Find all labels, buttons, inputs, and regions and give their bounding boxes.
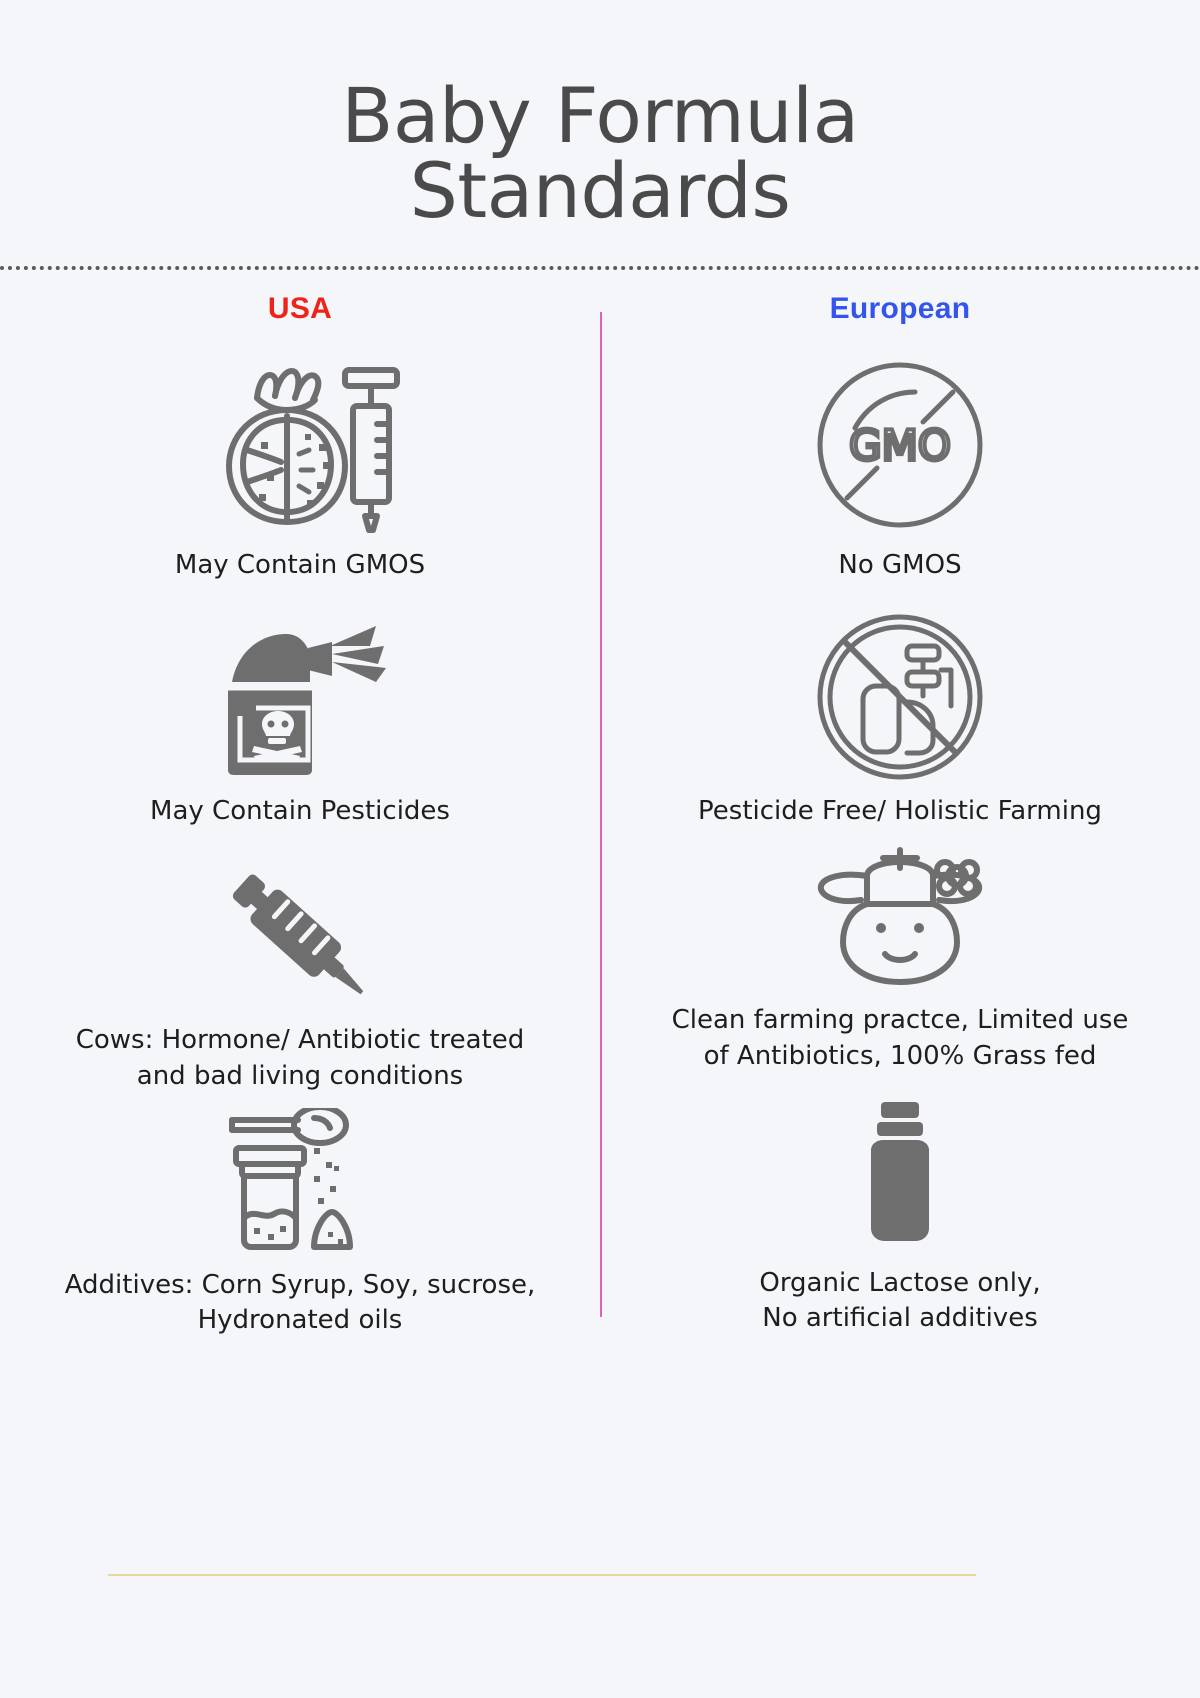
vertical-divider [600, 312, 602, 1317]
cow-head-flower-icon [805, 839, 995, 989]
no-gmo-circle-icon: GMO [811, 356, 989, 534]
usa-item-additives: Additives: Corn Syrup, Soy, sucrose, Hyd… [0, 1094, 600, 1339]
eu-caption-pesticide-free: Pesticide Free/ Holistic Farming [698, 794, 1102, 829]
usa-caption-additives: Additives: Corn Syrup, Soy, sucrose, Hyd… [65, 1268, 536, 1339]
eu-caption-organic-lactose: Organic Lactose only, No artificial addi… [759, 1266, 1040, 1337]
comparison-columns: USA [0, 270, 1200, 1698]
infographic-page: Baby Formula Standards USA [0, 0, 1200, 1698]
usa-caption-pesticides: May Contain Pesticides [150, 794, 450, 829]
bottom-rule [108, 1574, 976, 1576]
syringe-icon [210, 853, 390, 1013]
usa-item-gmo: May Contain GMOS [0, 348, 600, 583]
svg-text:GMO: GMO [849, 421, 951, 470]
eu-item-clean-farming: Clean farming practce, Limited use of An… [600, 829, 1200, 1074]
milk-bottle-icon [845, 1098, 955, 1248]
eu-caption-no-gmo: No GMOS [838, 548, 961, 583]
gmo-tomato-syringe-icon [195, 356, 405, 534]
title-line-1: Baby Formula [0, 78, 1200, 153]
usa-item-hormones: Cows: Hormone/ Antibiotic treated and ba… [0, 829, 600, 1094]
usa-caption-hormones: Cows: Hormone/ Antibiotic treated and ba… [60, 1023, 540, 1094]
title-line-2: Standards [0, 153, 1200, 228]
page-title: Baby Formula Standards [0, 0, 1200, 246]
eu-item-pesticide-free: Pesticide Free/ Holistic Farming [600, 584, 1200, 829]
additives-jar-spoon-icon [210, 1106, 390, 1256]
usa-item-pesticides: May Contain Pesticides [0, 584, 600, 829]
no-pesticide-sprayer-icon [813, 618, 988, 778]
column-european: European GMO [600, 292, 1200, 1698]
eu-item-organic-lactose: Organic Lactose only, No artificial addi… [600, 1074, 1200, 1337]
pesticide-spray-can-skull-icon [200, 618, 400, 778]
eu-item-no-gmo: GMO No GMOS [600, 348, 1200, 583]
column-heading-european: European [830, 292, 971, 326]
usa-caption-gmo: May Contain GMOS [175, 548, 425, 583]
eu-caption-clean-farming: Clean farming practce, Limited use of An… [660, 1003, 1140, 1074]
column-usa: USA [0, 292, 600, 1698]
column-heading-usa: USA [268, 292, 332, 326]
